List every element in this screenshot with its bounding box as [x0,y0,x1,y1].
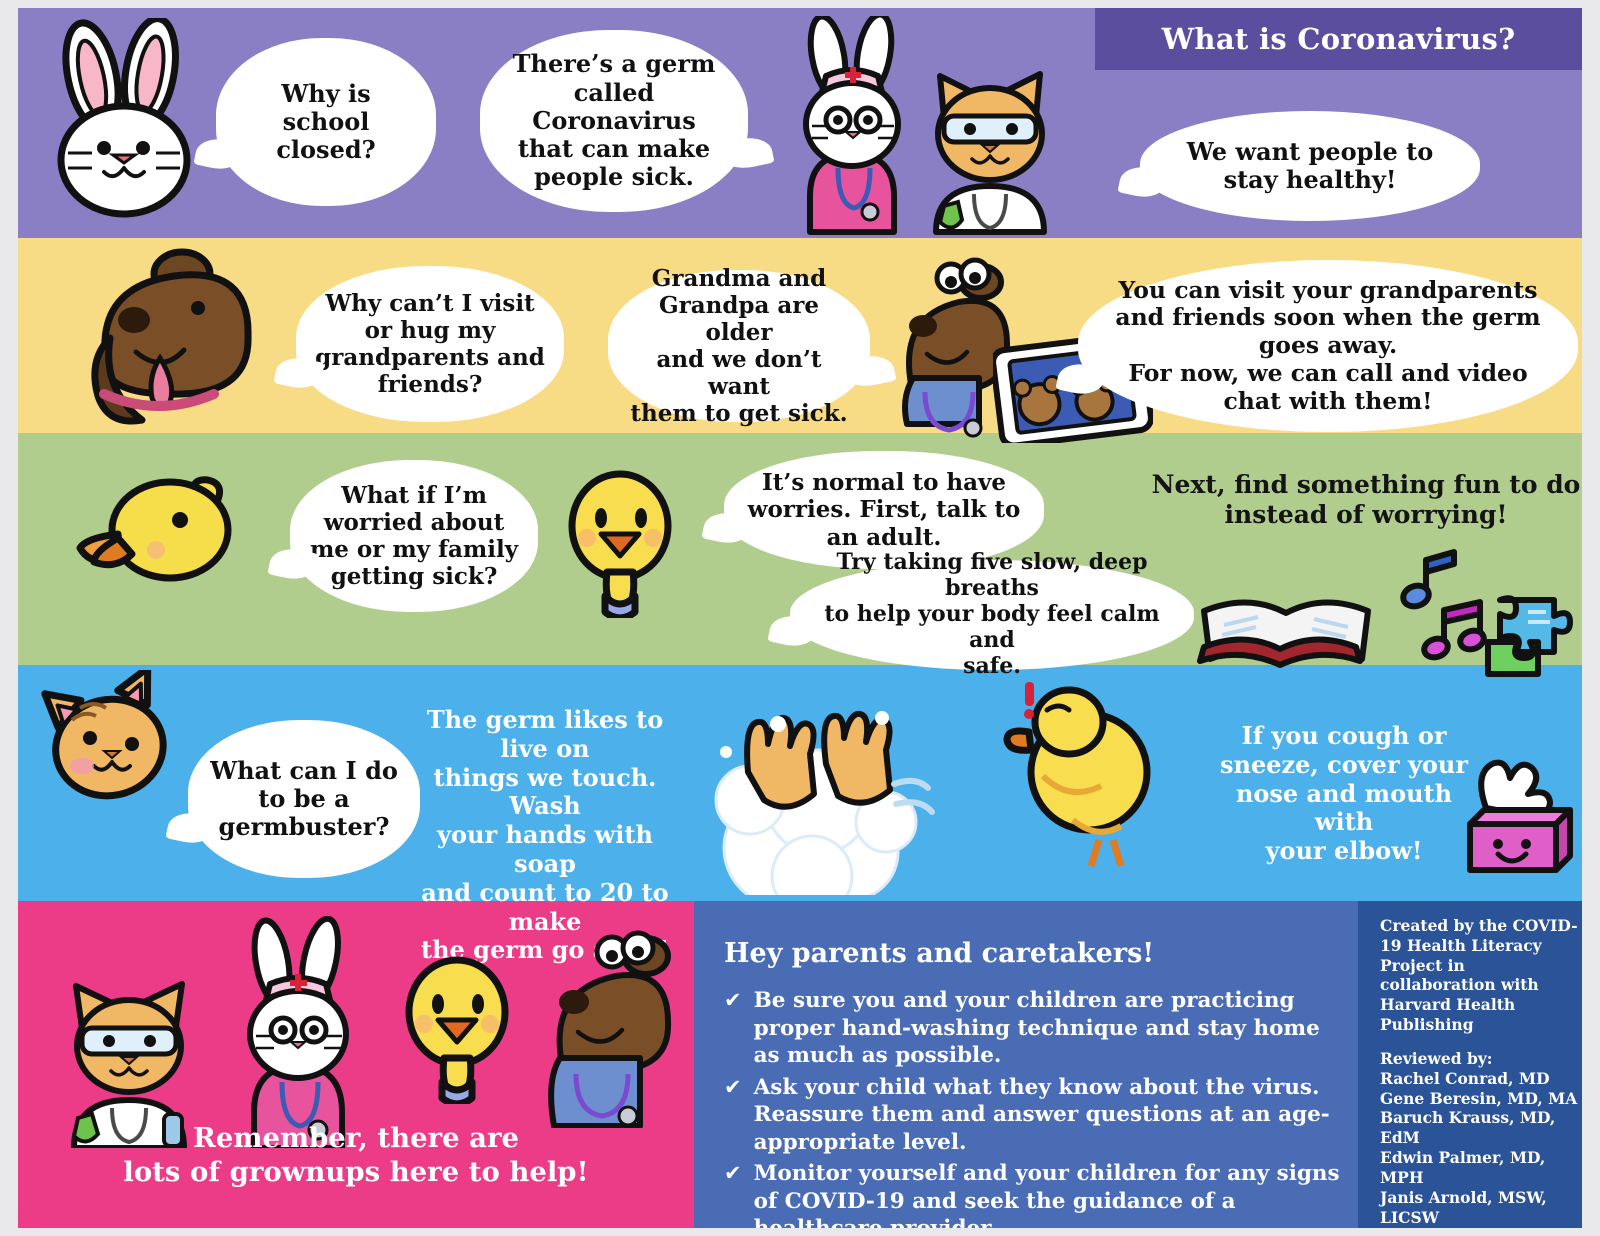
chick-character-bottom [390,954,525,1104]
reviewer-name: Gene Beresin, MD, MA [1380,1089,1578,1109]
check-icon: ✔ [724,1160,742,1228]
tissue-box-icon [1456,750,1576,884]
nurse-bunny-character [788,16,918,236]
cat-character [36,670,196,810]
speech-bubble-germbuster-question: What can I do to be a germbuster? [188,720,420,878]
page-title: What is Coronavirus? [1162,22,1516,56]
parents-panel: Hey parents and caretakers! ✔ Be sure yo… [724,938,1344,1228]
cough-sneeze-text: If you cough or sneeze, cover your nose … [1204,722,1484,866]
check-icon: ✔ [724,1074,742,1157]
sneezing-chick-character [1003,680,1163,875]
speech-bubble-school-question: Why is school closed? [216,38,436,206]
nurse-bunny-character-bottom [230,916,365,1148]
speech-bubble-grandparents-question: Why can’t I visit or hug my grandparents… [296,266,564,422]
header-bar: What is Coronavirus? [1095,8,1582,70]
handwashing-text: The germ likes to live on things we touc… [406,706,684,965]
credits-created-by: Created by the COVID-19 Health Literacy … [1380,916,1578,1035]
check-icon: ✔ [724,987,742,1070]
washing-hands-icon [690,680,960,899]
bubble-text: Grandma and Grandpa are older and we don… [626,265,852,428]
chick-character [553,468,688,618]
bubble-text: Why can’t I visit or hug my grandparents… [315,290,545,399]
parent-tip-text: Ask your child what they know about the … [754,1074,1344,1157]
bunny-character [46,18,221,223]
scientist-cat-character [918,56,1063,236]
bubble-text: It’s normal to have worries. First, talk… [748,469,1021,550]
scientist-cat-character-bottom [54,968,204,1148]
reviewer-name: Janis Arnold, MSW, LICSW [1380,1188,1578,1228]
reviewer-name: Chloë Nunneley, MD [1380,1227,1578,1228]
bubble-text: There’s a germ called Coronavirus that c… [498,50,730,192]
credits-reviewed-label: Reviewed by: [1380,1049,1578,1069]
puzzle-piece-icon [1458,590,1582,689]
credits-panel: Created by the COVID-19 Health Literacy … [1380,916,1578,1228]
parent-tip-text: Be sure you and your children are practi… [754,987,1344,1070]
book-icon [1196,583,1376,672]
parent-tip-text: Monitor yourself and your children for a… [754,1160,1344,1228]
reviewer-name: Baruch Krauss, MD, EdM [1380,1108,1578,1148]
bubble-text: You can visit your grandparents and frie… [1115,277,1540,416]
poster-root: What is Coronavirus? Why is school close… [18,8,1582,1228]
doctor-dog-character-bottom [530,928,680,1128]
duck-character [70,468,245,593]
bubble-text: We want people to stay healthy! [1187,138,1433,195]
remember-text: Remember, there are lots of grownups her… [18,1122,694,1189]
bubble-text: What can I do to be a germbuster? [210,757,398,842]
speech-bubble-grandparents-answer: Grandma and Grandpa are older and we don… [608,270,870,422]
reviewer-name: Rachel Conrad, MD [1380,1069,1578,1089]
bubble-text: Try taking five slow, deep breaths to he… [808,550,1176,680]
credits-spacer [1380,1035,1578,1049]
parent-tip-item: ✔ Ask your child what they know about th… [724,1074,1344,1157]
parent-tip-item: ✔ Be sure you and your children are prac… [724,987,1344,1070]
dog-character [78,246,273,431]
bubble-text: Why is school closed? [276,80,375,165]
speech-bubble-germ-answer: There’s a germ called Coronavirus that c… [480,30,748,212]
fun-activity-callout: Next, find something fun to do instead o… [1136,470,1582,530]
speech-bubble-worry-question: What if I’m worried about me or my famil… [290,460,538,612]
speech-bubble-stay-healthy: We want people to stay healthy! [1140,111,1480,221]
reviewer-name: Edwin Palmer, MD, MPH [1380,1148,1578,1188]
bubble-text: What if I’m worried about me or my famil… [310,482,518,591]
parents-title: Hey parents and caretakers! [724,938,1344,969]
speech-bubble-deep-breaths: Try taking five slow, deep breaths to he… [790,560,1194,670]
parent-tip-item: ✔ Monitor yourself and your children for… [724,1160,1344,1228]
speech-bubble-visit-soon: You can visit your grandparents and frie… [1078,260,1578,432]
